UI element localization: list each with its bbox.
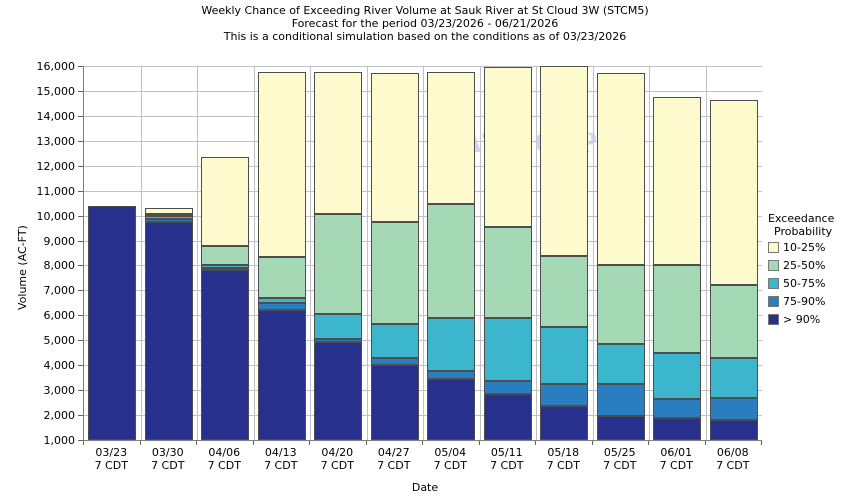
bar-segment[interactable] bbox=[371, 222, 419, 324]
x-tick-time: 7 CDT bbox=[83, 459, 140, 472]
stacked-bar[interactable] bbox=[653, 66, 701, 440]
x-tick-date: 03/23 bbox=[83, 446, 140, 459]
x-axis-tick-label: 03/237 CDT bbox=[83, 446, 140, 472]
bar-segment[interactable] bbox=[201, 157, 249, 246]
bar-segment[interactable] bbox=[427, 204, 475, 317]
bar-segment[interactable] bbox=[145, 214, 193, 216]
x-axis-tick-label: 05/187 CDT bbox=[535, 446, 592, 472]
bar-segment[interactable] bbox=[653, 353, 701, 399]
stacked-bar[interactable] bbox=[314, 66, 362, 440]
y-axis-tick-mark bbox=[78, 66, 83, 67]
gridline-vertical bbox=[197, 66, 198, 440]
x-tick-time: 7 CDT bbox=[309, 459, 366, 472]
gridline-vertical bbox=[706, 66, 707, 440]
x-axis-tick-label: 04/067 CDT bbox=[196, 446, 253, 472]
legend-entry[interactable]: 10-25% bbox=[768, 239, 850, 256]
gridline-vertical bbox=[536, 66, 537, 440]
y-axis-tick-mark bbox=[78, 91, 83, 92]
bar-segment[interactable] bbox=[201, 268, 249, 270]
legend-entry-label: 75-90% bbox=[783, 295, 825, 308]
y-axis-tick-mark bbox=[78, 265, 83, 266]
legend-entry[interactable]: > 90% bbox=[768, 311, 850, 328]
gridline-vertical bbox=[423, 66, 424, 440]
x-tick-date: 05/04 bbox=[422, 446, 479, 459]
bar-segment[interactable] bbox=[484, 67, 532, 227]
legend-color-swatch bbox=[768, 278, 779, 289]
x-axis-tick-mark bbox=[648, 441, 649, 445]
x-tick-date: 05/25 bbox=[592, 446, 649, 459]
x-tick-date: 04/13 bbox=[253, 446, 310, 459]
stacked-bar[interactable] bbox=[427, 66, 475, 440]
x-tick-date: 06/08 bbox=[705, 446, 762, 459]
bar-segment[interactable] bbox=[314, 72, 362, 214]
gridline-vertical bbox=[141, 66, 142, 440]
bar-segment[interactable] bbox=[258, 298, 306, 303]
y-axis-tick-label: 16,000 bbox=[14, 61, 75, 72]
legend-title-line1: Exceedance bbox=[768, 212, 850, 225]
y-axis-tick-label: 1,000 bbox=[14, 435, 75, 446]
legend-color-swatch bbox=[768, 260, 779, 271]
stacked-bar[interactable] bbox=[540, 66, 588, 440]
legend-color-swatch bbox=[768, 296, 779, 307]
x-axis-title: Date bbox=[0, 481, 850, 494]
bar-segment[interactable] bbox=[145, 216, 193, 218]
x-tick-date: 04/20 bbox=[309, 446, 366, 459]
bar-segment[interactable] bbox=[88, 206, 136, 440]
bar-segment[interactable] bbox=[427, 72, 475, 204]
x-tick-time: 7 CDT bbox=[705, 459, 762, 472]
bar-segment[interactable] bbox=[427, 371, 475, 378]
bar-segment[interactable] bbox=[653, 97, 701, 265]
bar-segment[interactable] bbox=[145, 219, 193, 222]
bar-segment[interactable] bbox=[710, 420, 758, 440]
bar-segment[interactable] bbox=[371, 73, 419, 221]
y-axis-tick-label: 4,000 bbox=[14, 360, 75, 371]
bar-segment[interactable] bbox=[314, 314, 362, 339]
y-axis-tick-label: 14,000 bbox=[14, 111, 75, 122]
stacked-bar[interactable] bbox=[201, 66, 249, 440]
legend-entry-label: 50-75% bbox=[783, 277, 825, 290]
gridline-vertical bbox=[593, 66, 594, 440]
bar-segment[interactable] bbox=[710, 100, 758, 286]
x-axis-tick-mark bbox=[83, 441, 84, 445]
x-axis-tick-label: 06/087 CDT bbox=[705, 446, 762, 472]
x-axis-tick-label: 05/047 CDT bbox=[422, 446, 479, 472]
stacked-bar[interactable] bbox=[710, 66, 758, 440]
bar-segment[interactable] bbox=[427, 318, 475, 372]
x-axis-tick-mark bbox=[196, 441, 197, 445]
legend-color-swatch bbox=[768, 242, 779, 253]
y-axis-tick-mark bbox=[78, 141, 83, 142]
legend-entry[interactable]: 50-75% bbox=[768, 275, 850, 292]
y-axis-tick-label: 2,000 bbox=[14, 410, 75, 421]
bar-segment[interactable] bbox=[597, 73, 645, 265]
bar-segment[interactable] bbox=[710, 398, 758, 420]
y-axis-tick-mark bbox=[78, 191, 83, 192]
gridline-vertical bbox=[254, 66, 255, 440]
legend-entry-label: 25-50% bbox=[783, 259, 825, 272]
y-axis-tick-label: 10,000 bbox=[14, 211, 75, 222]
bar-segment[interactable] bbox=[258, 257, 306, 298]
gridline-vertical bbox=[310, 66, 311, 440]
bar-segment[interactable] bbox=[710, 358, 758, 398]
x-tick-date: 05/11 bbox=[479, 446, 536, 459]
x-axis-tick-mark bbox=[535, 441, 536, 445]
x-tick-date: 03/30 bbox=[140, 446, 197, 459]
bar-segment[interactable] bbox=[201, 246, 249, 266]
y-axis-tick-mark bbox=[78, 116, 83, 117]
bar-segment[interactable] bbox=[201, 270, 249, 440]
bar-segment[interactable] bbox=[597, 265, 645, 344]
x-tick-time: 7 CDT bbox=[592, 459, 649, 472]
y-axis-tick-label: 13,000 bbox=[14, 136, 75, 147]
bar-segment[interactable] bbox=[371, 358, 419, 365]
x-tick-time: 7 CDT bbox=[479, 459, 536, 472]
x-axis-tick-label: 05/257 CDT bbox=[592, 446, 649, 472]
y-axis-tick-mark bbox=[78, 365, 83, 366]
stacked-bar[interactable] bbox=[145, 66, 193, 440]
bar-segment[interactable] bbox=[484, 227, 532, 318]
chart-titles: Weekly Chance of Exceeding River Volume … bbox=[0, 4, 850, 43]
x-axis-tick-mark bbox=[253, 441, 254, 445]
y-axis-tick-label: 3,000 bbox=[14, 385, 75, 396]
bar-segment[interactable] bbox=[314, 342, 362, 440]
x-tick-time: 7 CDT bbox=[253, 459, 310, 472]
y-axis-tick-mark bbox=[78, 216, 83, 217]
legend-entry-label: > 90% bbox=[783, 313, 820, 326]
bar-segment[interactable] bbox=[145, 208, 193, 214]
x-tick-date: 06/01 bbox=[648, 446, 705, 459]
gridline-vertical bbox=[367, 66, 368, 440]
bar-segment[interactable] bbox=[653, 399, 701, 418]
x-axis-tick-mark bbox=[366, 441, 367, 445]
chart-title-line2: Forecast for the period 03/23/2026 - 06/… bbox=[0, 17, 850, 30]
bar-segment[interactable] bbox=[258, 310, 306, 440]
x-tick-time: 7 CDT bbox=[140, 459, 197, 472]
bar-segment[interactable] bbox=[653, 418, 701, 440]
x-axis-tick-mark bbox=[479, 441, 480, 445]
legend-entry-label: 10-25% bbox=[783, 241, 825, 254]
legend-title-line2: Probability bbox=[768, 225, 850, 238]
bar-segment[interactable] bbox=[540, 327, 588, 384]
x-axis-tick-label: 04/137 CDT bbox=[253, 446, 310, 472]
x-axis-tick-mark bbox=[309, 441, 310, 445]
y-axis-tick-mark bbox=[78, 166, 83, 167]
y-axis-tick-mark bbox=[78, 241, 83, 242]
y-axis-tick-label: 15,000 bbox=[14, 86, 75, 97]
legend-entries: 10-25%25-50%50-75%75-90%> 90% bbox=[768, 239, 850, 328]
bar-segment[interactable] bbox=[258, 72, 306, 257]
bar-segment[interactable] bbox=[484, 394, 532, 440]
x-axis-tick-label: 03/307 CDT bbox=[140, 446, 197, 472]
x-axis-tick-mark bbox=[592, 441, 593, 445]
bar-segment[interactable] bbox=[597, 344, 645, 384]
y-axis-tick-mark bbox=[78, 390, 83, 391]
plot-area: D ATMOSP bbox=[83, 66, 762, 441]
gridline-vertical bbox=[480, 66, 481, 440]
x-axis-tick-label: 04/277 CDT bbox=[366, 446, 423, 472]
bar-segment[interactable] bbox=[540, 406, 588, 440]
x-axis-tick-label: 04/207 CDT bbox=[309, 446, 366, 472]
bar-segment[interactable] bbox=[540, 256, 588, 327]
x-tick-date: 04/06 bbox=[196, 446, 253, 459]
x-tick-time: 7 CDT bbox=[535, 459, 592, 472]
stacked-bar[interactable] bbox=[88, 66, 136, 440]
y-axis-tick-label: 6,000 bbox=[14, 310, 75, 321]
bar-segment[interactable] bbox=[371, 324, 419, 358]
bar-segment[interactable] bbox=[145, 222, 193, 440]
bar-segment[interactable] bbox=[653, 265, 701, 352]
legend-entry[interactable]: 75-90% bbox=[768, 293, 850, 310]
stacked-bar[interactable] bbox=[484, 66, 532, 440]
x-tick-time: 7 CDT bbox=[648, 459, 705, 472]
x-tick-time: 7 CDT bbox=[366, 459, 423, 472]
y-axis-tick-mark bbox=[78, 340, 83, 341]
stacked-bar[interactable] bbox=[597, 66, 645, 440]
bar-segment[interactable] bbox=[710, 285, 758, 357]
stacked-bar[interactable] bbox=[371, 66, 419, 440]
bar-segment[interactable] bbox=[201, 265, 249, 268]
stacked-bar[interactable] bbox=[258, 66, 306, 440]
bar-segment[interactable] bbox=[258, 303, 306, 310]
x-tick-date: 04/27 bbox=[366, 446, 423, 459]
bar-segment[interactable] bbox=[314, 339, 362, 342]
x-axis-tick-mark bbox=[705, 441, 706, 445]
x-tick-time: 7 CDT bbox=[422, 459, 479, 472]
chart-title-line3: This is a conditional simulation based o… bbox=[0, 30, 850, 43]
x-tick-time: 7 CDT bbox=[196, 459, 253, 472]
gridline-vertical bbox=[649, 66, 650, 440]
chart-container: Weekly Chance of Exceeding River Volume … bbox=[0, 0, 850, 500]
legend-entry[interactable]: 25-50% bbox=[768, 257, 850, 274]
x-axis-tick-label: 06/017 CDT bbox=[648, 446, 705, 472]
bar-segment[interactable] bbox=[597, 416, 645, 440]
y-axis-tick-label: 11,000 bbox=[14, 186, 75, 197]
bar-segment[interactable] bbox=[314, 214, 362, 314]
bar-segment[interactable] bbox=[484, 381, 532, 393]
y-axis-title: Volume (AC-FT) bbox=[16, 225, 29, 310]
bar-segment[interactable] bbox=[484, 318, 532, 382]
x-axis-tick-mark bbox=[140, 441, 141, 445]
chart-title-line1: Weekly Chance of Exceeding River Volume … bbox=[0, 4, 850, 17]
x-tick-date: 05/18 bbox=[535, 446, 592, 459]
bar-segment[interactable] bbox=[427, 379, 475, 440]
legend-color-swatch bbox=[768, 314, 779, 325]
y-axis-tick-label: 12,000 bbox=[14, 161, 75, 172]
x-axis-tick-mark bbox=[422, 441, 423, 445]
x-axis-tick-label: 05/117 CDT bbox=[479, 446, 536, 472]
x-axis-tick-mark bbox=[761, 441, 762, 445]
bar-segment[interactable] bbox=[597, 384, 645, 416]
bar-segment[interactable] bbox=[371, 365, 419, 440]
bar-segment[interactable] bbox=[540, 384, 588, 406]
y-axis-tick-mark bbox=[78, 315, 83, 316]
legend: Exceedance Probability 10-25%25-50%50-75… bbox=[768, 212, 850, 328]
y-axis-tick-mark bbox=[78, 415, 83, 416]
legend-title: Exceedance Probability bbox=[768, 212, 850, 238]
bar-segment[interactable] bbox=[540, 66, 588, 255]
y-axis-tick-label: 5,000 bbox=[14, 335, 75, 346]
y-axis-tick-mark bbox=[78, 290, 83, 291]
